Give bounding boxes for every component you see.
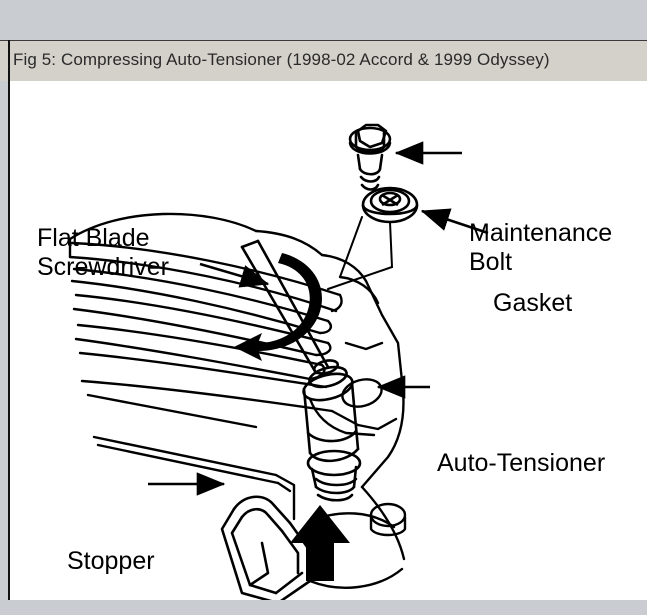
- label-gasket: Gasket: [493, 289, 572, 318]
- caption-top-rule: [0, 40, 647, 41]
- bottom-background-strip: [0, 600, 647, 615]
- label-flat-blade-screwdriver-line1: Flat Blade: [37, 224, 169, 253]
- label-flat-blade-screwdriver-line2: Screwdriver: [37, 253, 169, 282]
- figure-caption-text: Fig 5: Compressing Auto-Tensioner (1998-…: [13, 49, 550, 70]
- label-maintenance-bolt: Maintenance Bolt: [469, 219, 612, 277]
- figure-viewer: Fig 5: Compressing Auto-Tensioner (1998-…: [0, 0, 647, 615]
- label-maintenance-bolt-line1: Maintenance: [469, 219, 612, 248]
- auto-tensioner-line-drawing: [10, 81, 647, 600]
- top-background-strip: [0, 0, 647, 40]
- label-maintenance-bolt-line2: Bolt: [469, 248, 612, 277]
- label-auto-tensioner: Auto-Tensioner: [437, 449, 605, 478]
- label-flat-blade-screwdriver: Flat Blade Screwdriver: [37, 224, 169, 282]
- figure-image-panel: Flat Blade Screwdriver Maintenance Bolt …: [8, 81, 647, 600]
- label-stopper: Stopper: [67, 547, 155, 576]
- caption-left-border: [8, 40, 10, 81]
